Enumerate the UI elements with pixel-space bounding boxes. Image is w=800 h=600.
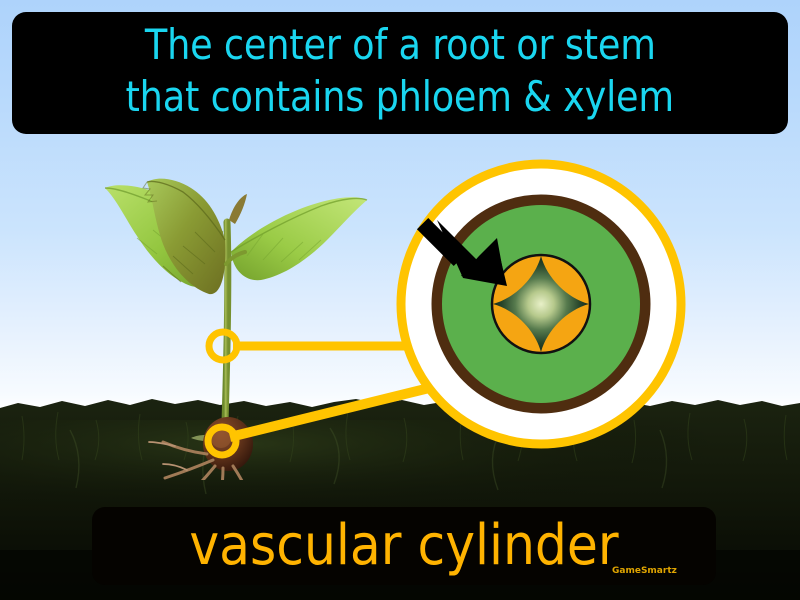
definition-banner: The center of a root or stem that contai… (12, 12, 788, 134)
watermark-label: GameSmartz (612, 566, 677, 576)
term-label: vascular cylinder (189, 516, 618, 576)
definition-card: The center of a root or stem that contai… (0, 0, 800, 600)
definition-line-2: that contains phloem & xylem (126, 71, 674, 123)
stem-marker-ring (209, 332, 237, 360)
root-cross-section (393, 156, 689, 452)
definition-line-1: The center of a root or stem (145, 19, 656, 71)
